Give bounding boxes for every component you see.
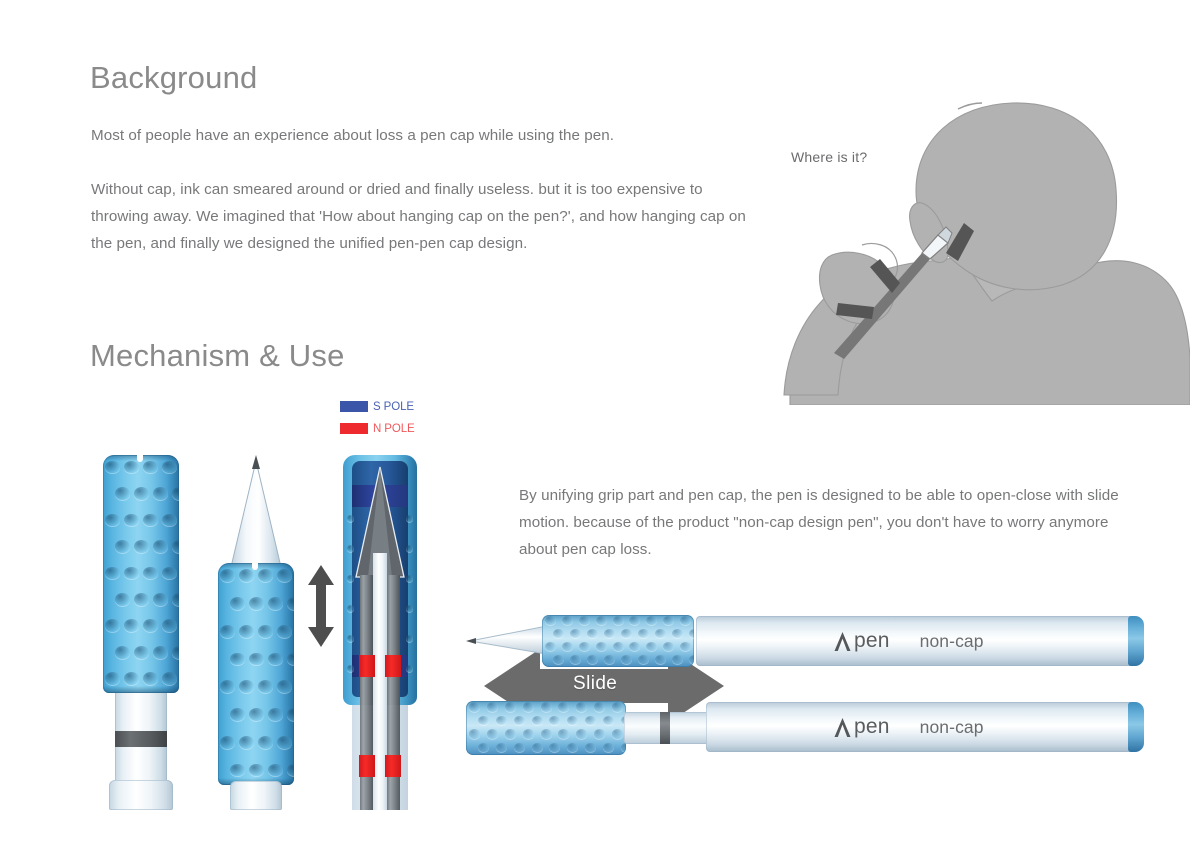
product-model: non-cap: [920, 717, 984, 738]
background-paragraph-2: Without cap, ink can smeared around or d…: [91, 176, 763, 257]
grip-dimples: [103, 455, 179, 693]
legend-label-s-pole: S POLE: [373, 401, 414, 413]
pen-tip: [215, 455, 297, 575]
brand-name: pen: [854, 715, 890, 739]
grip-dimples: [466, 701, 626, 755]
s-pole-swatch: [340, 401, 368, 412]
slide-label: Slide: [573, 673, 617, 695]
cap-notch: [252, 563, 258, 570]
pen-dark-band: [660, 712, 670, 744]
cap-notch: [137, 455, 143, 462]
person-back-view-holding-pen-icon: [770, 95, 1190, 405]
legend-item-s-pole: S POLE: [340, 399, 415, 414]
magnet-pole-legend: S POLE N POLE: [340, 399, 415, 443]
background-paragraph-1: Most of people have an experience about …: [91, 122, 791, 149]
pen-barrel-end-cap: [1128, 702, 1144, 752]
magnet-n-pole-low-left: [359, 755, 375, 777]
magnet-n-pole-mid-left: [359, 655, 375, 677]
brand-logo-a-icon: [834, 718, 851, 737]
slide-canvas: Background Most of people have an experi…: [0, 0, 1200, 849]
page-title-mechanism: Mechanism & Use: [90, 338, 345, 374]
brand-name: pen: [854, 629, 890, 653]
grip-dimples: [218, 563, 294, 785]
pen-barrel-end: [109, 780, 173, 810]
grip-dimples: [542, 615, 694, 667]
page-title-background: Background: [90, 60, 257, 96]
pen-closed-vertical: [100, 455, 182, 810]
vertical-double-arrow-icon: [305, 565, 337, 647]
pen-closed-horizontal: pen non-cap: [466, 698, 1166, 760]
magnet-n-pole-low-right: [385, 755, 401, 777]
pen-grip: [103, 455, 179, 693]
pen-open-vertical: [215, 455, 297, 810]
pen-grip: [542, 615, 694, 667]
mechanism-paragraph: By unifying grip part and pen cap, the p…: [519, 482, 1119, 563]
pen-cross-section: [340, 455, 420, 810]
pen-grip: [218, 563, 294, 785]
legend-item-n-pole: N POLE: [340, 421, 415, 436]
product-branding: pen non-cap: [834, 715, 984, 739]
pen-barrel-end-cap: [1128, 616, 1144, 666]
n-pole-swatch: [340, 423, 368, 434]
legend-label-n-pole: N POLE: [373, 423, 415, 435]
pen-grip: [466, 701, 626, 755]
product-model: non-cap: [920, 631, 984, 652]
pen-barrel-end: [230, 781, 282, 810]
pen-dark-band: [115, 731, 167, 747]
brand-logo-a-icon: [834, 632, 851, 651]
pen-open-horizontal: pen non-cap: [466, 612, 1166, 674]
magnet-n-pole-mid-right: [385, 655, 401, 677]
product-branding: pen non-cap: [834, 629, 984, 653]
